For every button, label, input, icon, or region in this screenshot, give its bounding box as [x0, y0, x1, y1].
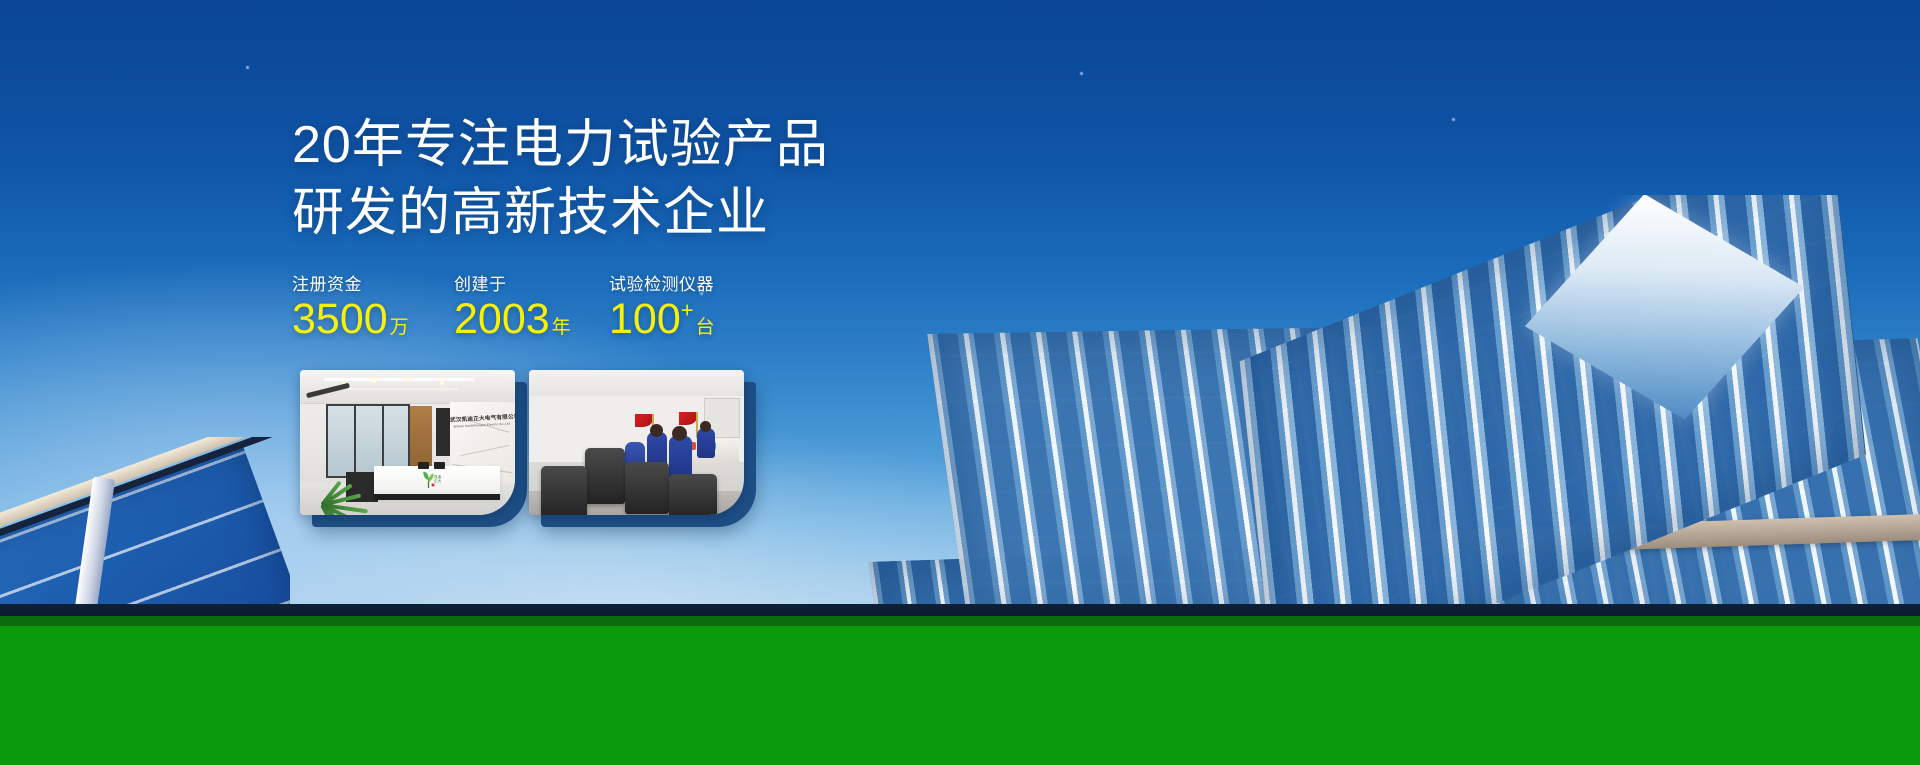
page-title: 20年专注电力试验产品 研发的高新技术企业	[292, 112, 829, 247]
stat-registered-capital: 注册资金 3500万	[292, 270, 454, 341]
office-chair	[625, 462, 669, 514]
stat-superscript: +	[681, 298, 694, 323]
stat-number: 100	[609, 295, 681, 343]
monitor	[434, 462, 445, 469]
office-reception-image: 武汉凯迪正大电气有限公司 Wuhan Kaidizhengda Electric…	[300, 370, 515, 515]
ceiling-cove-light	[324, 378, 474, 381]
stats-row: 注册资金 3500万 创建于 2003年 试验检测仪器 100+台	[292, 270, 715, 341]
stat-caption: 注册资金	[292, 270, 454, 295]
office-chair	[541, 466, 587, 515]
sky-speck	[1080, 72, 1083, 75]
sky-speck	[1452, 118, 1455, 121]
stat-unit: 年	[552, 317, 571, 338]
stat-caption: 创建于	[454, 270, 609, 295]
ceiling	[529, 370, 744, 396]
photo-card-list: 武汉凯迪正大电气有限公司 Wuhan Kaidizhengda Electric…	[300, 370, 744, 515]
spot-light	[440, 381, 444, 385]
reception-desk-base	[374, 494, 500, 500]
stat-unit: 台	[696, 317, 715, 338]
headline-line-2: 研发的高新技术企业	[292, 180, 829, 248]
company-wall-signage: 武汉凯迪正大电气有限公司 Wuhan Kaidizhengda Electric…	[450, 414, 514, 427]
stat-caption: 试验检测仪器	[609, 270, 715, 295]
spot-light	[372, 379, 376, 383]
green-footer-band	[0, 626, 1920, 765]
building-mass	[860, 195, 1920, 665]
stat-number: 3500	[292, 295, 388, 343]
ceiling-cove-light	[348, 388, 458, 390]
office-chair	[585, 448, 625, 504]
spot-light	[406, 377, 410, 381]
stat-value-wrap: 3500万	[292, 298, 454, 341]
stat-founded-year: 创建于 2003年	[454, 270, 609, 341]
photo-card-office-reception[interactable]: 武汉凯迪正大电气有限公司 Wuhan Kaidizhengda Electric…	[300, 370, 515, 515]
person-head	[672, 426, 687, 441]
seated-person	[697, 428, 715, 458]
logo-wordmark: 凯迪正大	[434, 476, 441, 484]
dark-doorway	[436, 408, 450, 456]
office-chair	[669, 474, 717, 515]
person-head	[700, 421, 711, 432]
hero-banner: 20年专注电力试验产品 研发的高新技术企业 注册资金 3500万 创建于 200…	[0, 0, 1920, 765]
marble-vein	[460, 445, 509, 456]
glass-building-photo	[860, 195, 1920, 665]
potted-palm	[300, 461, 372, 513]
monitor	[418, 462, 429, 469]
stat-number: 2003	[454, 295, 550, 343]
photo-card-meeting-room[interactable]	[529, 370, 744, 515]
stat-value-wrap: 2003年	[454, 298, 609, 341]
sky-speck	[246, 66, 249, 69]
headline-line-1: 20年专注电力试验产品	[292, 112, 829, 180]
stat-test-instruments: 试验检测仪器 100+台	[609, 270, 715, 341]
meeting-room-image	[529, 370, 744, 515]
stat-unit: 万	[390, 317, 409, 338]
stat-value-wrap: 100+台	[609, 298, 715, 341]
person-head	[650, 424, 663, 437]
